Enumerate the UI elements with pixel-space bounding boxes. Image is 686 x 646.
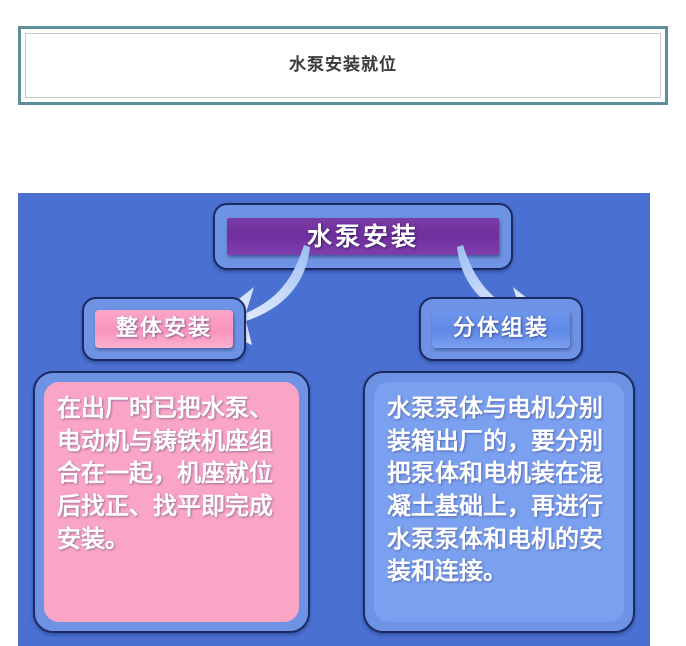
node-root-plate: 水泵安装 — [227, 218, 499, 255]
diagram-canvas: 水泵安装 整体安装 分体组装 — [18, 193, 650, 646]
panel-integral-installation-plate: 在出厂时已把水泵、电动机与铸铁机座组合在一起，机座就位后找正、找平即完成安装。 — [44, 382, 299, 622]
header-inner-frame: 水泵安装就位 — [25, 33, 661, 98]
page-title: 水泵安装就位 — [289, 57, 397, 74]
panel-split-assembly-text: 水泵泵体与电机分别装箱出厂的，要分别把泵体和电机装在混凝土基础上，再进行水泵泵体… — [387, 392, 615, 588]
node-branch-split-assembly[interactable]: 分体组装 — [419, 297, 583, 361]
node-branch-integral-installation-label: 整体安装 — [116, 318, 212, 340]
panel-split-assembly: 水泵泵体与电机分别装箱出厂的，要分别把泵体和电机装在混凝土基础上，再进行水泵泵体… — [363, 371, 635, 633]
header-banner: 水泵安装就位 — [18, 26, 668, 105]
panel-integral-installation-text: 在出厂时已把水泵、电动机与铸铁机座组合在一起，机座就位后找正、找平即完成安装。 — [57, 392, 290, 555]
panel-split-assembly-plate: 水泵泵体与电机分别装箱出厂的，要分别把泵体和电机装在混凝土基础上，再进行水泵泵体… — [374, 382, 624, 622]
node-root-label: 水泵安装 — [307, 224, 419, 249]
node-root[interactable]: 水泵安装 — [213, 203, 513, 270]
node-branch-integral-installation[interactable]: 整体安装 — [82, 297, 246, 361]
node-branch-split-assembly-plate: 分体组装 — [432, 310, 570, 348]
node-branch-integral-installation-plate: 整体安装 — [95, 310, 233, 348]
panel-integral-installation: 在出厂时已把水泵、电动机与铸铁机座组合在一起，机座就位后找正、找平即完成安装。 — [33, 371, 310, 633]
node-branch-split-assembly-label: 分体组装 — [453, 318, 549, 340]
